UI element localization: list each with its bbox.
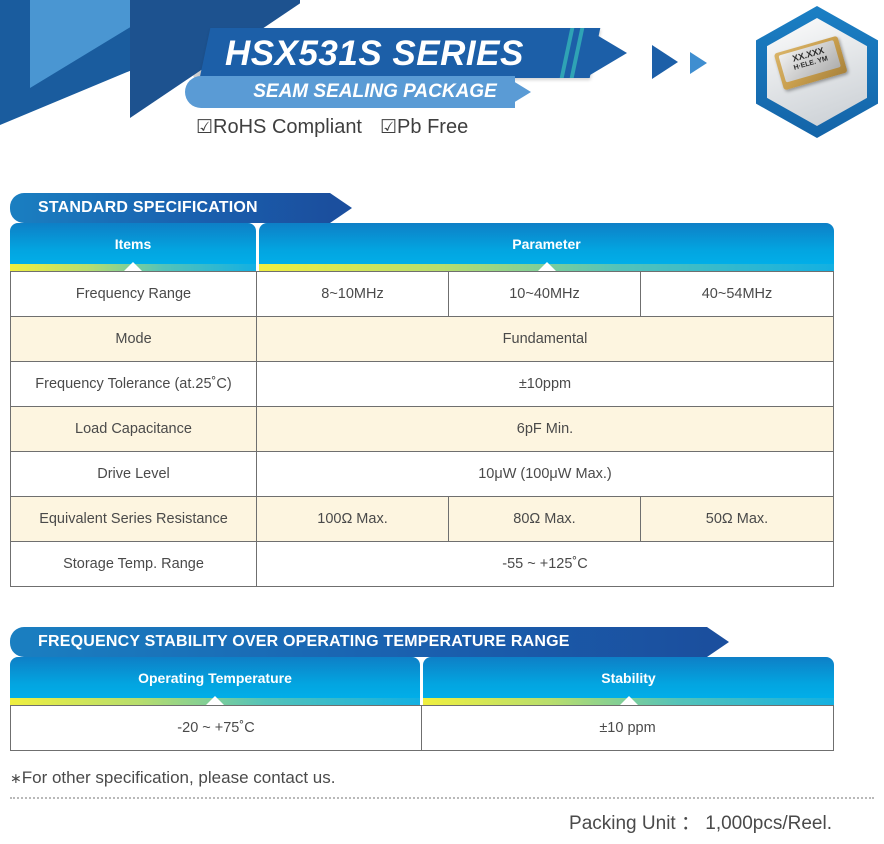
footer-divider bbox=[10, 797, 874, 799]
product-title-block: HSX531S SERIES SEAM SEALING PACKAGE bbox=[185, 28, 645, 120]
row-value: 100Ω Max. bbox=[256, 497, 448, 541]
row-value: -20 ~ +75˚C bbox=[11, 706, 421, 750]
column-header-stability-label: Stability bbox=[423, 657, 834, 699]
banner-tip bbox=[707, 627, 729, 657]
standard-specification-section: STANDARD SPECIFICATION Items Parameter F… bbox=[10, 193, 834, 587]
row-value: 6pF Min. bbox=[256, 407, 833, 451]
table-row: Drive Level 10μW (100μW Max.) bbox=[10, 452, 834, 497]
standard-specification-banner: STANDARD SPECIFICATION bbox=[10, 193, 834, 223]
column-header-operating-temperature: Operating Temperature bbox=[10, 657, 420, 705]
table-row: Frequency Tolerance (at.25˚C) ±10ppm bbox=[10, 362, 834, 407]
table-row: Frequency Range 8~10MHz 10~40MHz 40~54MH… bbox=[10, 271, 834, 317]
column-header-parameter-label: Parameter bbox=[259, 223, 834, 265]
frequency-stability-banner: FREQUENCY STABILITY OVER OPERATING TEMPE… bbox=[10, 627, 834, 657]
row-value: ±10 ppm bbox=[421, 706, 833, 750]
header-notch bbox=[124, 262, 142, 271]
footnote-text: For other specification, please contact … bbox=[22, 768, 336, 787]
row-value: 50Ω Max. bbox=[640, 497, 833, 541]
standard-specification-title: STANDARD SPECIFICATION bbox=[38, 193, 258, 223]
column-header-parameter: Parameter bbox=[259, 223, 834, 271]
standard-specification-table: Items Parameter Frequency Range 8~10MHz … bbox=[10, 223, 834, 587]
column-header-items-label: Items bbox=[10, 223, 256, 265]
footnote-star-icon: ∗ bbox=[10, 770, 22, 786]
compliance-badges: ☑RoHS Compliant☑Pb Free bbox=[196, 116, 468, 139]
footnote: ∗For other specification, please contact… bbox=[10, 768, 335, 788]
page-header: HSX531S SERIES SEAM SEALING PACKAGE ☑RoH… bbox=[0, 0, 884, 160]
frequency-stability-section: FREQUENCY STABILITY OVER OPERATING TEMPE… bbox=[10, 627, 834, 751]
column-header-items: Items bbox=[10, 223, 256, 271]
table-row: Mode Fundamental bbox=[10, 317, 834, 362]
row-value: 10~40MHz bbox=[448, 272, 640, 316]
table-row: -20 ~ +75˚C ±10 ppm bbox=[10, 705, 834, 751]
row-value: 40~54MHz bbox=[640, 272, 833, 316]
packing-unit-text: Packing Unit ： 1,000pcs/Reel. bbox=[569, 808, 832, 835]
row-value: -55 ~ +125˚C bbox=[256, 542, 833, 586]
page-title: HSX531S SERIES bbox=[225, 32, 605, 76]
pbfree-checkbox-icon: ☑ bbox=[380, 117, 397, 138]
column-header-stability: Stability bbox=[423, 657, 834, 705]
row-item-label: Storage Temp. Range bbox=[11, 542, 256, 586]
header-notch bbox=[206, 696, 224, 705]
header-notch bbox=[620, 696, 638, 705]
page-subtitle: SEAM SEALING PACKAGE bbox=[215, 76, 535, 108]
table-row: Storage Temp. Range -55 ~ +125˚C bbox=[10, 542, 834, 587]
chevron-right-icon-large bbox=[652, 45, 678, 79]
rohs-badge-label: RoHS Compliant bbox=[213, 116, 362, 138]
row-value: Fundamental bbox=[256, 317, 833, 361]
row-value: ±10ppm bbox=[256, 362, 833, 406]
table-row: Equivalent Series Resistance 100Ω Max. 8… bbox=[10, 497, 834, 542]
rohs-checkbox-icon: ☑ bbox=[196, 117, 213, 138]
chevron-right-icon-small bbox=[690, 52, 707, 74]
row-item-label: Frequency Range bbox=[11, 272, 256, 316]
row-value: 80Ω Max. bbox=[448, 497, 640, 541]
row-item-label: Mode bbox=[11, 317, 256, 361]
row-item-label: Drive Level bbox=[11, 452, 256, 496]
row-item-label: Frequency Tolerance (at.25˚C) bbox=[11, 362, 256, 406]
frequency-stability-table: Operating Temperature Stability -20 ~ +7… bbox=[10, 657, 834, 751]
table-header-row: Operating Temperature Stability bbox=[10, 657, 834, 705]
banner-tip bbox=[330, 193, 352, 223]
row-value: 10μW (100μW Max.) bbox=[256, 452, 833, 496]
product-photo-hexagon: XX.XXX H·ELE. YM bbox=[756, 6, 878, 138]
frequency-stability-title: FREQUENCY STABILITY OVER OPERATING TEMPE… bbox=[38, 627, 570, 657]
row-item-label: Load Capacitance bbox=[11, 407, 256, 451]
header-notch bbox=[538, 262, 556, 271]
table-row: Load Capacitance 6pF Min. bbox=[10, 407, 834, 452]
table-header-row: Items Parameter bbox=[10, 223, 834, 271]
row-value: 8~10MHz bbox=[256, 272, 448, 316]
pbfree-badge-label: Pb Free bbox=[397, 116, 468, 138]
row-item-label: Equivalent Series Resistance bbox=[11, 497, 256, 541]
column-header-operating-temperature-label: Operating Temperature bbox=[10, 657, 420, 699]
